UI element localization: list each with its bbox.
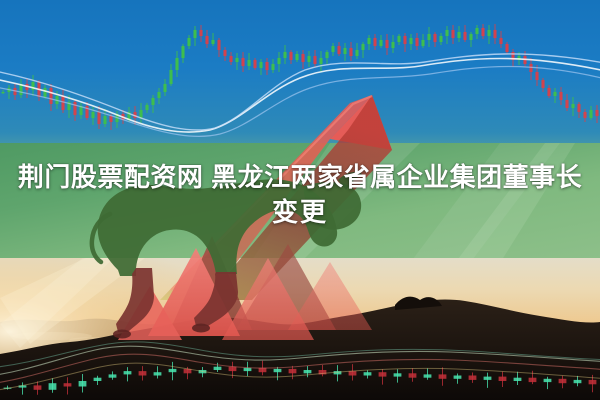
headline-block: 荆门股票配资网 黑龙江两家省属企业集团董事长 变更	[0, 160, 600, 230]
headline-line-1: 荆门股票配资网 黑龙江两家省属企业集团董事长	[14, 160, 586, 195]
headline-line-2: 变更	[14, 195, 586, 230]
stock-news-banner: 荆门股票配资网 黑龙江两家省属企业集团董事长 变更	[0, 0, 600, 400]
